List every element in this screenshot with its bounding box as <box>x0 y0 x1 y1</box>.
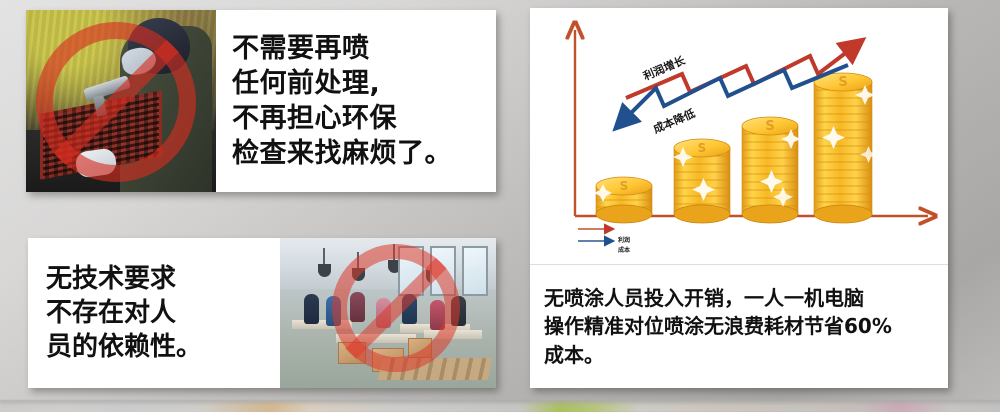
legend-label-cost: 成本 <box>618 246 630 256</box>
coin-stack-3: S <box>742 117 801 223</box>
legend-label-profit: 利润 <box>618 236 630 246</box>
profit-growth-chart: S S <box>530 8 948 264</box>
bottom-left-text-block: 无技术要求 不存在对人 员的依赖性。 <box>28 238 280 388</box>
profit-cost-card: S S <box>530 8 948 388</box>
ceiling-lamp <box>318 264 331 277</box>
factory-photo <box>280 238 496 388</box>
chart-svg: S S <box>530 8 948 264</box>
legend-item-profit: 利润 <box>576 236 630 246</box>
top-left-headline: 不需要再喷 任何前处理, 不再担心环保 检查来找麻烦了。 <box>232 31 452 171</box>
bottom-image-strip <box>0 400 1000 412</box>
prohibition-sign-icon <box>332 244 460 372</box>
coin-stack-4: S <box>814 73 877 223</box>
factory-worker <box>304 294 319 324</box>
svg-text:S: S <box>620 179 629 193</box>
legend-item-cost: 成本 <box>576 246 630 256</box>
svg-text:S: S <box>698 141 707 155</box>
top-left-text-block: 不需要再喷 任何前处理, 不再担心环保 检查来找麻烦了。 <box>216 10 496 192</box>
legend-labels: 利润 成本 <box>576 236 630 256</box>
coin-stack-1: S <box>594 177 652 223</box>
prohibition-sign-icon <box>36 22 196 182</box>
feature-card-bottom-left: 无技术要求 不存在对人 员的依赖性。 <box>28 238 496 388</box>
svg-text:S: S <box>838 75 847 90</box>
spray-painting-photo <box>26 10 216 192</box>
poster-stage: 不需要再喷 任何前处理, 不再担心环保 检查来找麻烦了。 无技术要求 不存在对人… <box>0 0 1000 412</box>
svg-text:S: S <box>765 119 774 134</box>
coin-stack-2: S <box>673 139 730 223</box>
window <box>462 246 488 296</box>
bottom-left-headline: 无技术要求 不存在对人 员的依赖性。 <box>46 262 202 365</box>
feature-card-top-left: 不需要再喷 任何前处理, 不再担心环保 检查来找麻烦了。 <box>26 10 496 192</box>
right-caption-block: 无喷涂人员投入开销，一人一机电脑 操作精准对位喷涂无浪费耗材节省60% 成本。 <box>530 265 948 388</box>
right-caption-text: 无喷涂人员投入开销，一人一机电脑 操作精准对位喷涂无浪费耗材节省60% 成本。 <box>544 284 892 369</box>
